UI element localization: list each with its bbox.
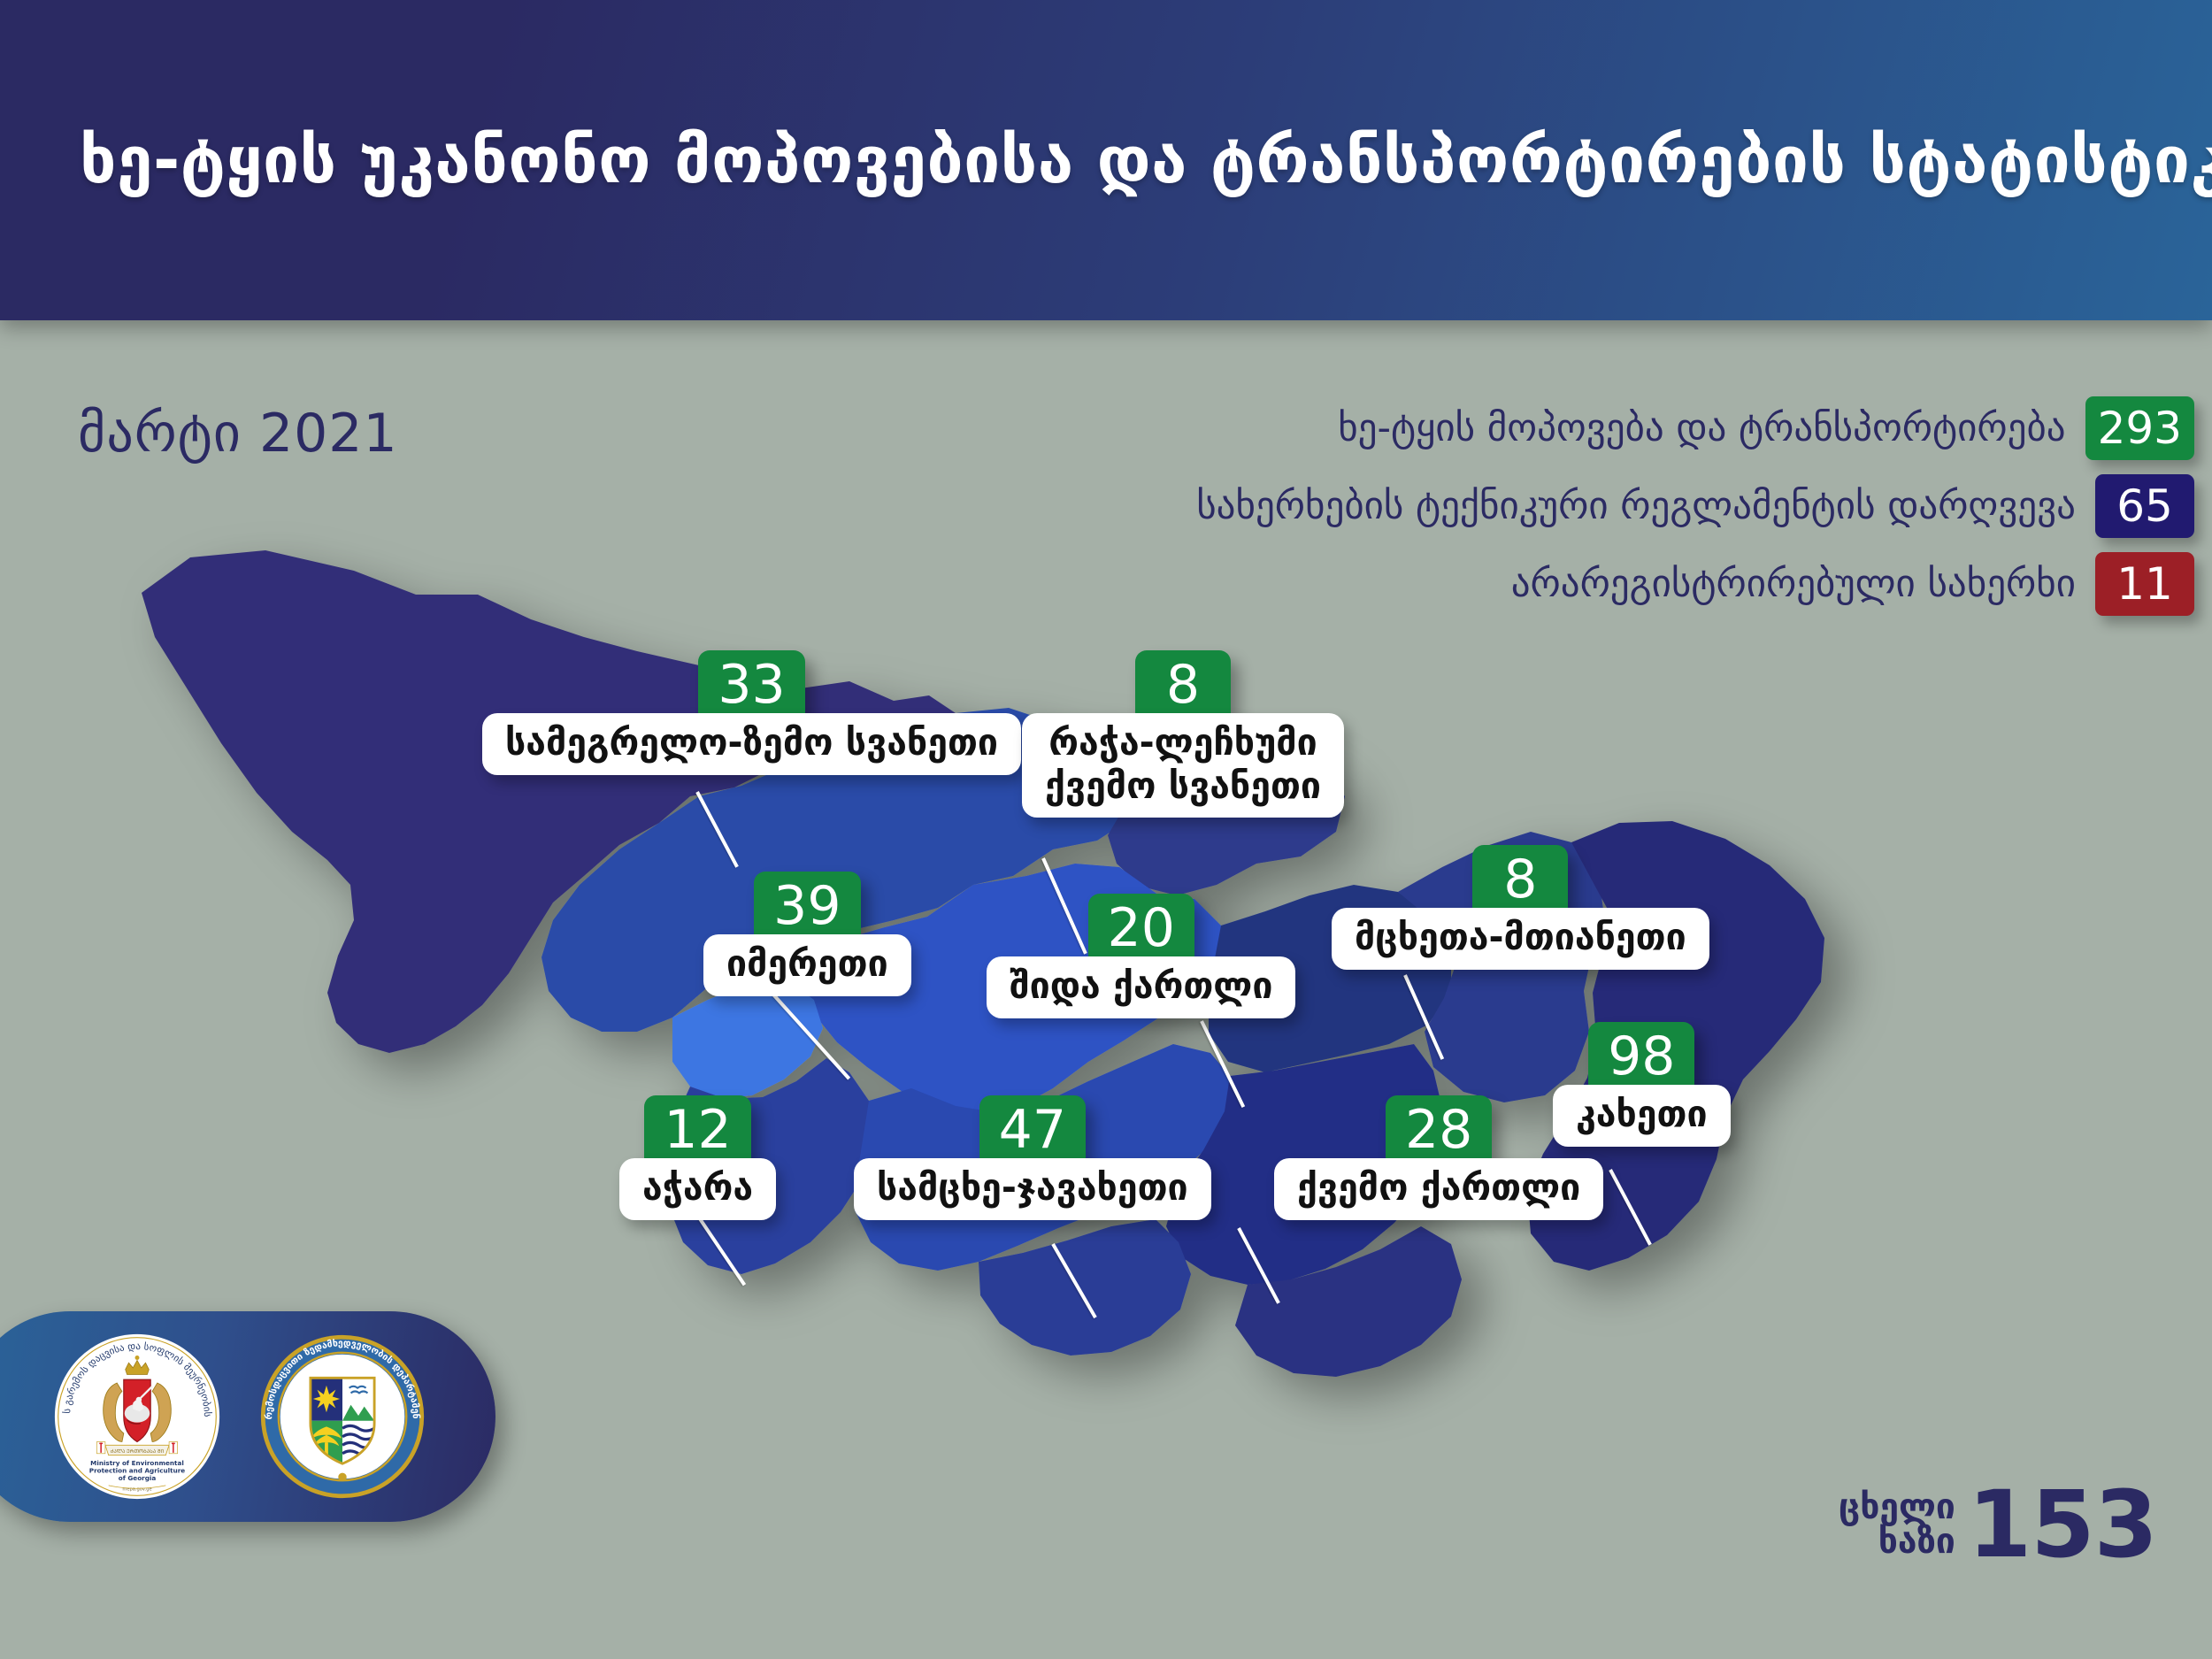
infographic-root: ხე-ტყის უკანონო მოპოვებისა და ტრანსპორტი…	[0, 0, 2212, 1659]
map-marker-kvemo-kartli[interactable]: 28 ქვემო ქართლი	[1274, 1095, 1603, 1220]
svg-text:ᲫᲐᲚᲐ ᲔᲠᲗᲝᲑᲐᲡᲐ ᲨᲘ: ᲫᲐᲚᲐ ᲔᲠᲗᲝᲑᲐᲡᲐ ᲨᲘ	[111, 1448, 165, 1455]
period-label: მარტი 2021	[78, 403, 398, 465]
map-marker-mtskheta-mtianeti[interactable]: 8 მცხეთა-მთიანეთი	[1332, 845, 1709, 970]
ministry-of-environment-logo: საქართველოს გარემოს დაცვისა და სოფლის მე…	[53, 1333, 221, 1501]
hotline-number: 153	[1968, 1486, 2157, 1563]
legend-item: არარეგისტრირებული სახერხი 11	[1511, 552, 2194, 616]
marker-label: რაჭა-ლეჩხუმი ქვემო სვანეთი	[1022, 713, 1344, 818]
header-banner: ხე-ტყის უკანონო მოპოვებისა და ტრანსპორტი…	[0, 0, 2212, 320]
marker-label: სამეგრელო-ზემო სვანეთი	[482, 713, 1021, 774]
marker-label: სამცხე-ჯავახეთი	[854, 1158, 1211, 1219]
legend-value-badge: 293	[2085, 396, 2194, 460]
legend-value-badge: 65	[2095, 474, 2194, 538]
map-marker-racha-lechkhumi[interactable]: 8 რაჭა-ლეჩხუმი ქვემო სვანეთი	[1022, 650, 1344, 818]
hotline: ცხელი ხაზი 153	[1839, 1486, 2157, 1563]
hotline-label-line2: ხაზი	[1839, 1525, 1955, 1559]
environmental-supervision-department-logo: გარემოსდაცვითი ზედამხედველობის დეპარტამე…	[258, 1333, 426, 1501]
ministry-line-3: of Georgia	[119, 1474, 157, 1482]
legend-item: ხე-ტყის მოპოვება და ტრანსპორტირება 293	[1338, 396, 2194, 460]
legend: ხე-ტყის მოპოვება და ტრანსპორტირება 293 ს…	[1196, 396, 2194, 616]
legend-value-badge: 11	[2095, 552, 2194, 616]
map-marker-shida-kartli[interactable]: 20 შიდა ქართლი	[987, 894, 1295, 1018]
legend-label: სახერხების ტექნიკური რეგლამენტის დარღვევ…	[1196, 484, 2076, 528]
map-marker-samtskhe-javakheti[interactable]: 47 სამცხე-ჯავახეთი	[854, 1095, 1211, 1220]
legend-item: სახერხების ტექნიკური რეგლამენტის დარღვევ…	[1196, 474, 2194, 538]
logo-bar: საქართველოს გარემოს დაცვისა და სოფლის მე…	[0, 1311, 495, 1522]
marker-label: შიდა ქართლი	[987, 956, 1295, 1018]
legend-label: ხე-ტყის მოპოვება და ტრანსპორტირება	[1338, 406, 2065, 450]
marker-label: ქვემო ქართლი	[1274, 1158, 1603, 1219]
map-marker-imereti[interactable]: 39 იმერეთი	[703, 872, 911, 996]
marker-label: მცხეთა-მთიანეთი	[1332, 908, 1709, 969]
map-marker-samegrelo-zemo-svaneti[interactable]: 33 სამეგრელო-ზემო სვანეთი	[482, 650, 1021, 775]
marker-label: აჭარა	[619, 1158, 776, 1219]
marker-label: იმერეთი	[703, 934, 911, 995]
legend-label: არარეგისტრირებული სახერხი	[1511, 562, 2076, 606]
hotline-label: ცხელი ხაზი	[1839, 1490, 1955, 1559]
hotline-label-line1: ცხელი	[1839, 1490, 1955, 1525]
page-title: ხე-ტყის უკანონო მოპოვებისა და ტრანსპორტი…	[0, 128, 2212, 193]
map-marker-adjara[interactable]: 12 აჭარა	[619, 1095, 776, 1220]
